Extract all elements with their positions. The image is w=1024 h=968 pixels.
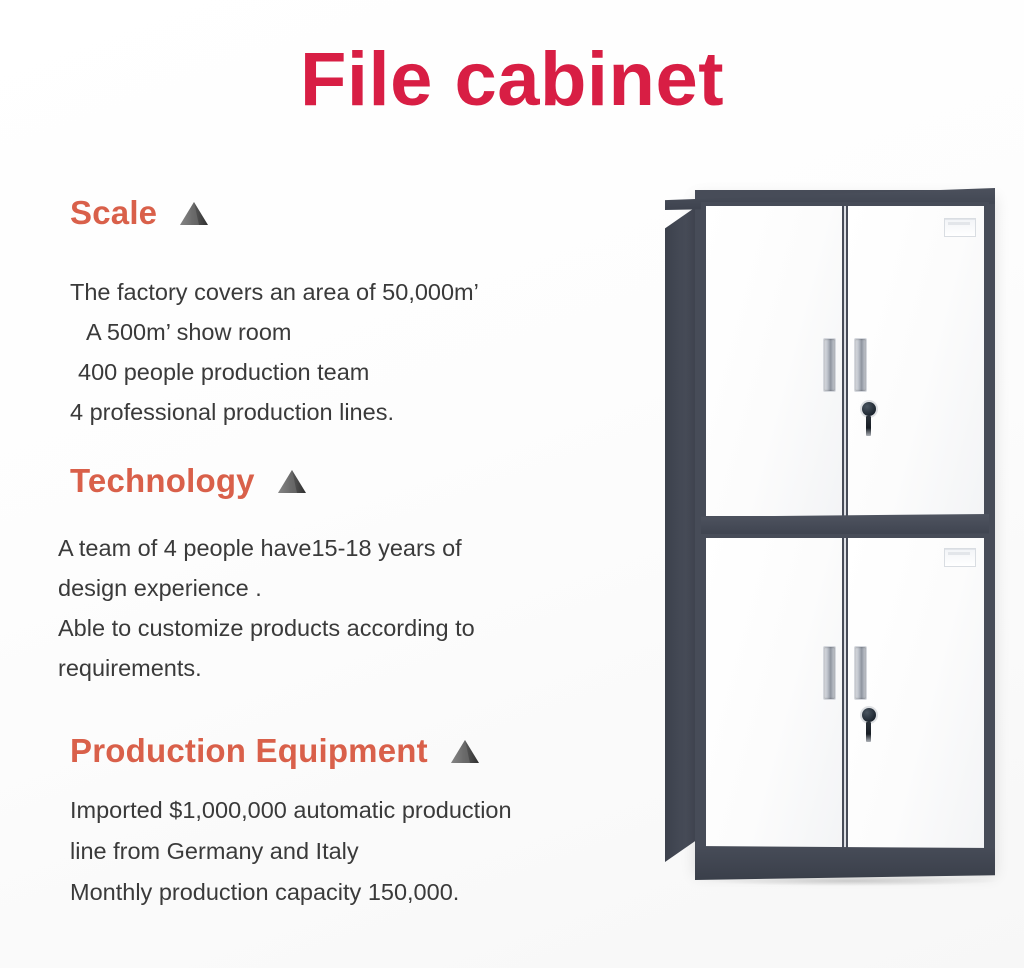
body-line: 400 people production team [70, 352, 479, 392]
section-heading-technology: Technology [70, 462, 307, 500]
triangle-icon [450, 739, 480, 769]
cabinet-label-plate-lower [944, 548, 976, 567]
cabinet-lock-lower [862, 708, 876, 722]
cabinet-drop-shadow [707, 876, 997, 886]
cabinet-key-lower [866, 722, 871, 742]
body-line: Imported $1,000,000 automatic production [70, 790, 512, 831]
cabinet-handle-upper-right [854, 338, 867, 392]
cabinet-lower-compartment [701, 534, 989, 856]
body-line: Able to customize products according to [58, 608, 475, 648]
cabinet-door-lower-left [706, 538, 842, 852]
cabinet-key-upper [866, 416, 871, 436]
section-body-production-equipment: Imported $1,000,000 automatic production… [70, 790, 512, 913]
body-line: line from Germany and Italy [70, 831, 512, 872]
content-column: Scale The factory covers an area of [0, 0, 660, 968]
section-body-scale: The factory covers an area of 50,000m’ A… [70, 272, 479, 432]
cabinet-door-seam-upper [844, 206, 846, 516]
triangle-icon [277, 469, 307, 499]
cabinet-middle-divider [701, 514, 989, 536]
body-line: The factory covers an area of 50,000m’ [70, 272, 479, 312]
body-line: Monthly production capacity 150,000. [70, 872, 512, 913]
cabinet-door-upper-left [706, 206, 842, 516]
cabinet-handle-lower-right [854, 646, 867, 700]
section-heading-production-equipment-label: Production Equipment [70, 732, 428, 770]
triangle-icon [179, 201, 209, 231]
body-line: requirements. [58, 648, 475, 688]
section-heading-production-equipment: Production Equipment [70, 732, 480, 770]
body-line: 4 professional production lines. [70, 392, 479, 432]
cabinet-lock-upper [862, 402, 876, 416]
file-cabinet-photo [655, 178, 1015, 888]
poster-root: File cabinet Scale [0, 0, 1024, 968]
body-line: A 500m’ show room [70, 312, 479, 352]
cabinet-label-plate-upper [944, 218, 976, 237]
cabinet-door-seam-lower [844, 538, 846, 852]
cabinet-base-plinth [695, 846, 995, 880]
section-heading-scale: Scale [70, 194, 209, 232]
section-heading-scale-label: Scale [70, 194, 157, 232]
cabinet-upper-compartment [701, 202, 989, 520]
section-body-technology: A team of 4 people have15-18 years of de… [58, 528, 475, 688]
body-line: design experience . [58, 568, 475, 608]
cabinet-door-upper-right [848, 206, 984, 516]
cabinet-handle-upper-left [823, 338, 836, 392]
section-heading-technology-label: Technology [70, 462, 255, 500]
cabinet-door-lower-right [848, 538, 984, 852]
cabinet-handle-lower-left [823, 646, 836, 700]
body-line: A team of 4 people have15-18 years of [58, 528, 475, 568]
